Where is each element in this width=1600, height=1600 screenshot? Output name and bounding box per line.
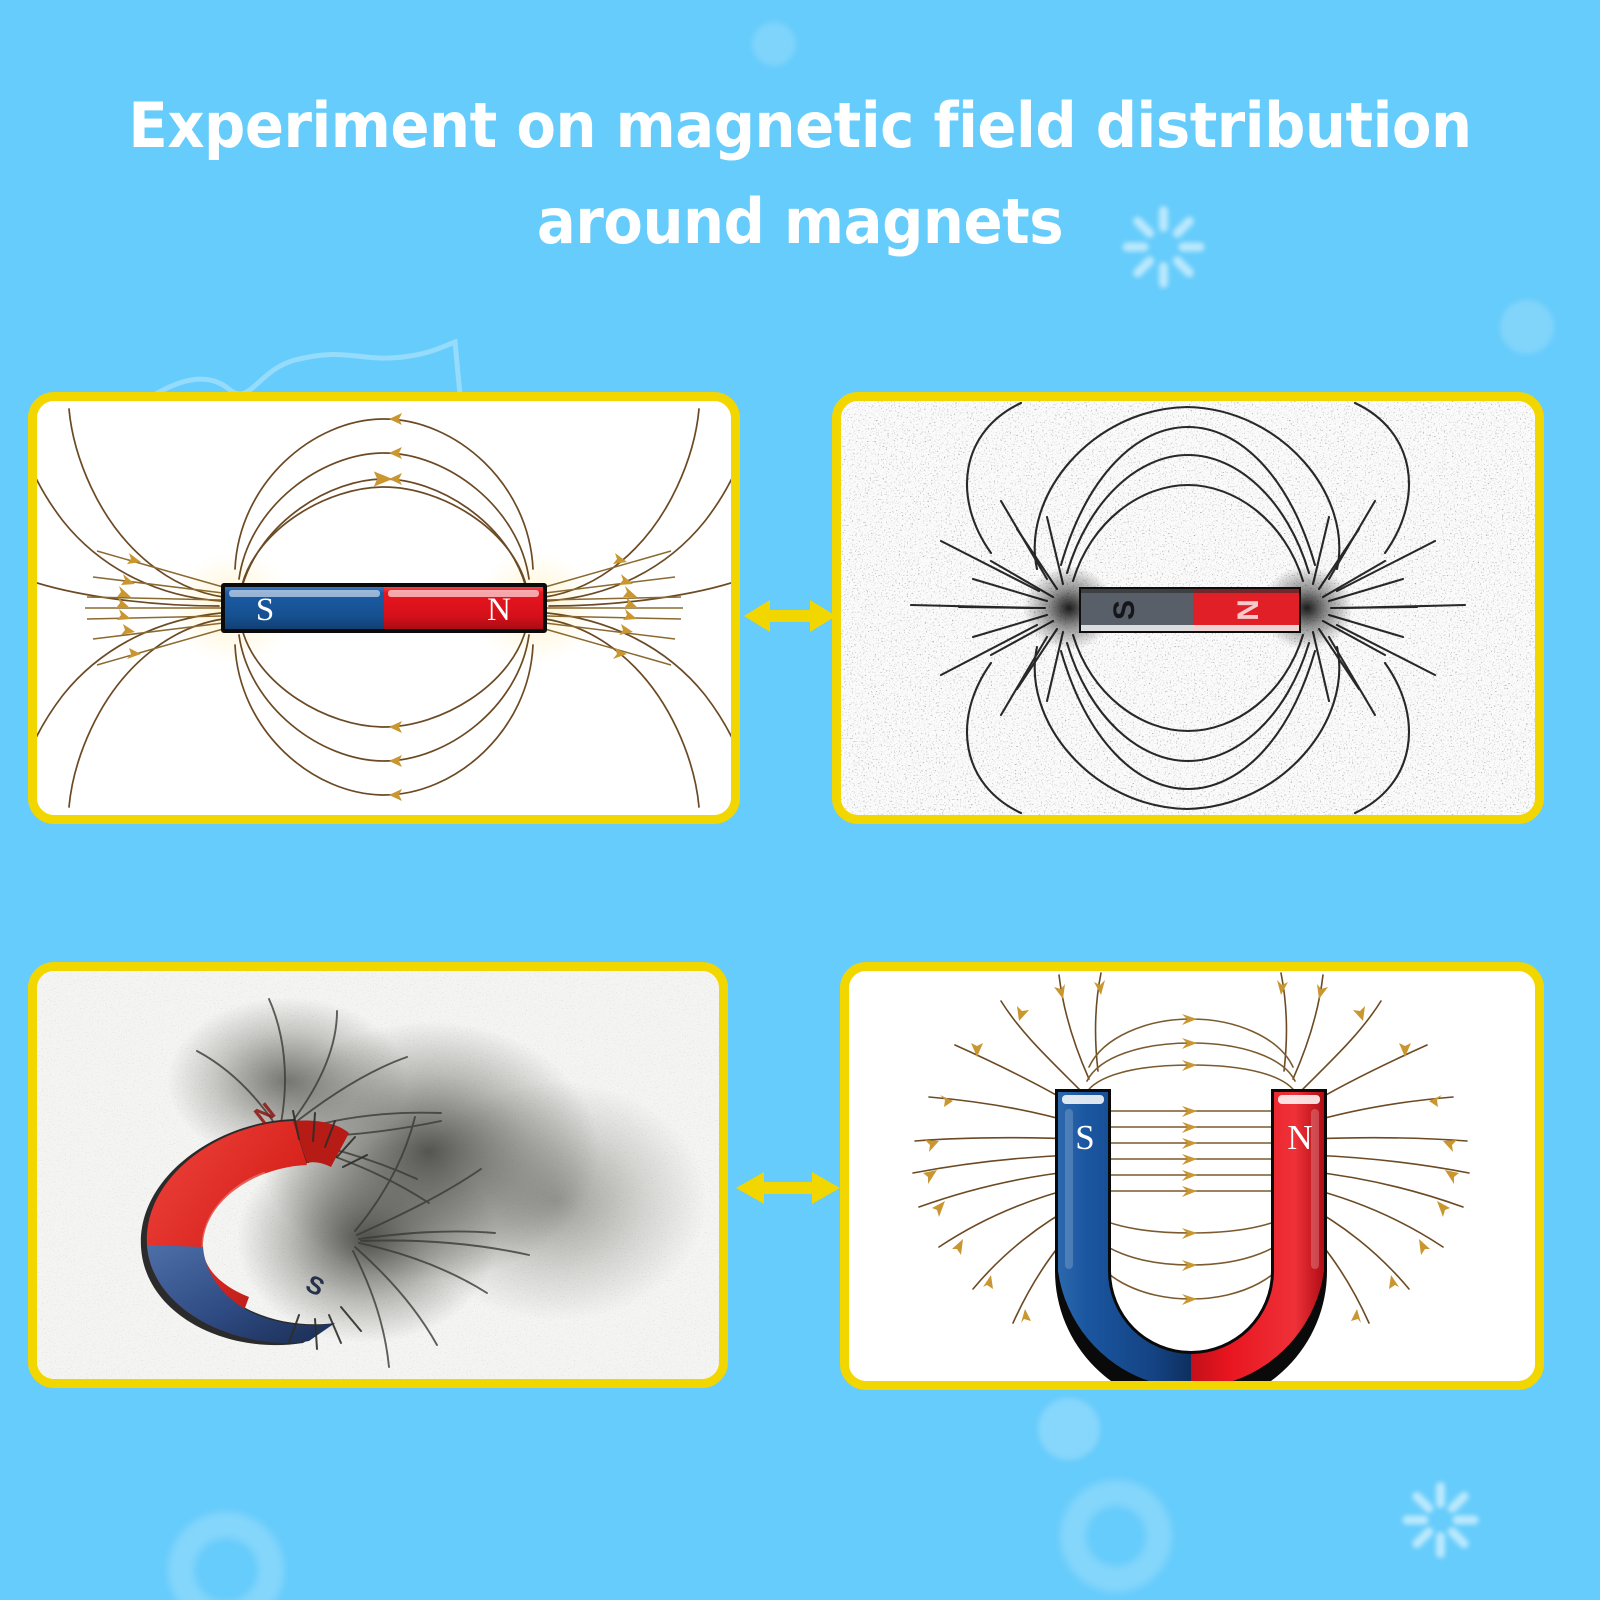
horseshoe-filings-canvas: N S <box>37 971 719 1379</box>
poster-root: Experiment on magnetic field distributio… <box>0 0 1600 1600</box>
sparkle-decoration-bottom-right <box>1390 1470 1490 1570</box>
bottom-double-arrow <box>736 1168 840 1208</box>
page-title-line-1: Experiment on magnetic field distributio… <box>56 78 1544 174</box>
iron-filings-bar-svg <box>841 401 1535 815</box>
panel-horseshoe-magnet-diagram[interactable]: S N <box>840 962 1544 1390</box>
photo-bar-magnet-south-label: S <box>1102 588 1148 632</box>
panel-horseshoe-magnet-photo[interactable]: N S <box>28 962 728 1388</box>
panel-bar-magnet-diagram[interactable]: S N <box>28 392 740 824</box>
top-double-arrow <box>744 596 836 636</box>
bar-magnet-filings-canvas: S N <box>841 401 1535 815</box>
horseshoe-field-svg <box>849 971 1535 1381</box>
bubble-decoration-3 <box>168 1512 284 1600</box>
bar-magnet-north-label: N <box>469 587 529 633</box>
bar-magnet-diagram-canvas: S N <box>37 401 731 815</box>
horseshoe-south-label: S <box>1059 1113 1111 1163</box>
page-title: Experiment on magnetic field distributio… <box>56 78 1544 270</box>
bubble-decoration-2 <box>1060 1480 1172 1592</box>
photo-bar-magnet-north-label: N <box>1226 588 1272 632</box>
page-title-line-2: around magnets <box>56 174 1544 270</box>
bubble-decoration-4 <box>1500 300 1554 354</box>
panel-bar-magnet-photo[interactable]: S N <box>832 392 1544 824</box>
bubble-decoration-5 <box>752 22 796 66</box>
iron-filings-horseshoe-svg <box>37 971 719 1379</box>
horseshoe-diagram-canvas: S N <box>849 971 1535 1381</box>
bar-magnet-field-svg <box>37 401 731 815</box>
bar-magnet-south-label: S <box>235 587 295 633</box>
horseshoe-north-label: N <box>1274 1113 1326 1163</box>
bubble-decoration-1 <box>1038 1398 1100 1460</box>
